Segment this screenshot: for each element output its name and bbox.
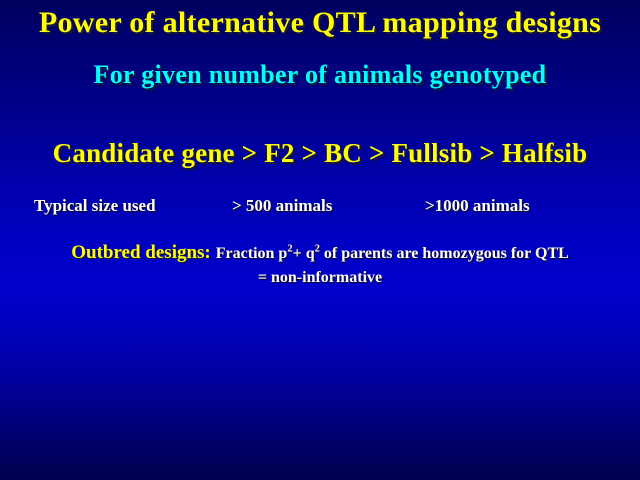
typical-size-row: Typical size used > 500 animals >1000 an… — [0, 196, 640, 216]
typical-size-value-halfsib: >1000 animals — [425, 196, 606, 216]
design-ordering-heading: Candidate gene > F2 > BC > Fullsib > Hal… — [0, 140, 640, 167]
outbred-designs-label: Outbred designs: — [71, 242, 211, 263]
outbred-designs-line-2: = non-informative — [0, 270, 640, 286]
presentation-slide: Power of alternative QTL mapping designs… — [0, 0, 640, 480]
fraction-text-after: of parents are homozygous for QTL — [320, 245, 569, 262]
slide-title: Power of alternative QTL mapping designs — [0, 8, 640, 38]
outbred-designs-line-1: Outbred designs:Fraction p2+ q2 of paren… — [0, 243, 640, 262]
fraction-text-between: + q — [293, 245, 315, 262]
typical-size-value-f2: > 500 animals — [232, 196, 425, 216]
typical-size-label: Typical size used — [0, 196, 232, 216]
slide-subtitle: For given number of animals genotyped — [0, 62, 640, 88]
outbred-designs-formula: Fraction p2+ q2 of parents are homozygou… — [216, 245, 569, 262]
fraction-text-before: Fraction p — [216, 245, 288, 262]
